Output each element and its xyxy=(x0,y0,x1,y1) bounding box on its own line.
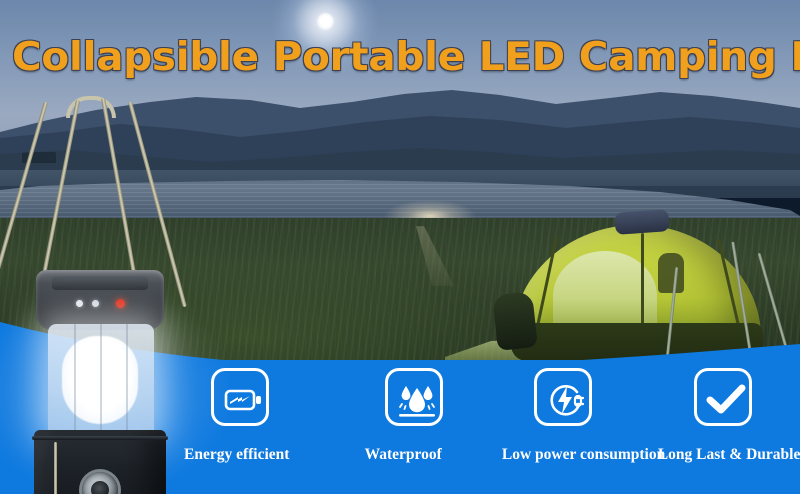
tent-bag xyxy=(492,291,538,351)
feature-item-energy-efficient: Energy efficient xyxy=(178,368,365,488)
feature-label: Waterproof xyxy=(365,446,442,464)
water-drops-icon xyxy=(385,368,443,426)
moon-icon xyxy=(317,13,334,30)
indicator-led-white xyxy=(76,300,83,307)
feature-list: Energy efficient Waterproof xyxy=(0,368,800,488)
feature-item-low-power: Low power consumption xyxy=(498,368,658,488)
feature-label: Low power consumption xyxy=(502,446,665,464)
power-bolt-plug-icon xyxy=(534,368,592,426)
product-banner: Collapsible Portable LED Camping Lantern xyxy=(0,0,800,494)
page-title: Collapsible Portable LED Camping Lantern xyxy=(12,34,800,82)
battery-bolt-icon xyxy=(211,368,269,426)
feature-label: Energy efficient xyxy=(184,446,289,464)
tent-top-bag xyxy=(614,209,669,235)
feature-label: Long Last & Durable xyxy=(658,446,800,464)
lantern-cap-slot xyxy=(52,276,148,290)
indicator-led-white xyxy=(92,300,99,307)
title-area: Collapsible Portable LED Camping Lantern xyxy=(0,34,800,86)
feature-item-durable: Long Last & Durable xyxy=(658,368,800,488)
tent-vent xyxy=(658,253,684,293)
checkmark-icon xyxy=(694,368,752,426)
feature-item-waterproof: Waterproof xyxy=(365,368,498,488)
indicator-led-red xyxy=(116,299,125,308)
